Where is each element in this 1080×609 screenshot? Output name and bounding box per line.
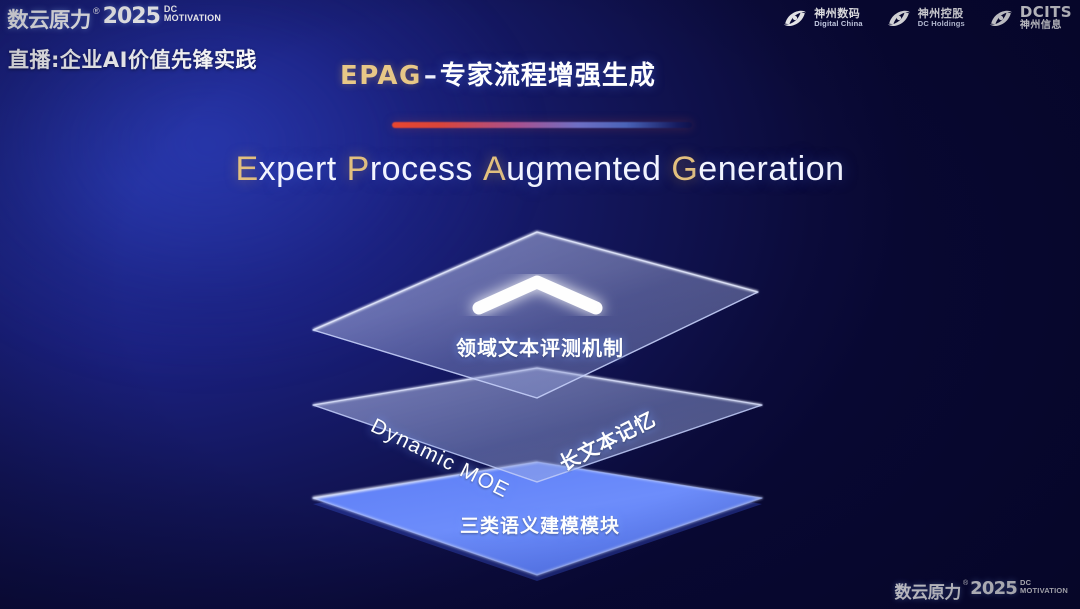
layer-label-dynamic-moe: Dynamic MOE: [367, 414, 514, 503]
watermark-registered-mark: ®: [963, 580, 968, 587]
partner-logo-dc-holdings: 神州控股 DC Holdings: [885, 6, 965, 30]
watermark-dc-motivation: DC MOTIVATION: [1020, 579, 1068, 595]
expanded-acronym-title: Expert Process Augmented Generation: [0, 150, 1080, 189]
header-left: 数云原力 ® 2025 DC MOTIVATION 直播:企业AI价值先锋实践: [8, 4, 328, 74]
watermark-cn: 数云原力: [895, 578, 961, 603]
brand-logo: 数云原力 ® 2025 DC MOTIVATION: [8, 4, 328, 34]
brand-dc-line2: MOTIVATION: [164, 14, 221, 23]
title-dash: –: [422, 61, 440, 91]
chevron-up-icon: [479, 282, 596, 308]
acronym-cap-p: P: [347, 150, 370, 188]
livestream-subtitle: 直播:企业AI价值先锋实践: [8, 44, 328, 74]
partner-logo-dcits: DCITS 神州信息: [987, 5, 1072, 31]
brand-logo-registered-mark: ®: [93, 6, 100, 16]
partner-name-en: DC Holdings: [918, 20, 965, 28]
stack-layer-top[interactable]: [313, 232, 758, 398]
brand-logo-year: 2025: [103, 4, 160, 29]
page-title: EPAG–专家流程增强生成: [340, 55, 656, 92]
watermark-dc-line2: MOTIVATION: [1020, 587, 1068, 595]
swirl-logo-icon: [885, 6, 913, 30]
acronym-cap-e: E: [235, 150, 258, 188]
swirl-logo-icon: [781, 6, 809, 30]
partner-name-en: Digital China: [814, 20, 862, 28]
title-chinese: 专家流程增强生成: [440, 61, 656, 91]
brand-logo-cn: 数云原力: [7, 4, 91, 34]
gradient-divider: [392, 122, 692, 128]
partner-text: 神州控股 DC Holdings: [918, 8, 965, 27]
swirl-logo-icon: [987, 6, 1015, 30]
layer-label-long-text-memory: 长文本记忆: [553, 403, 660, 477]
acronym-rest-generation: eneration: [698, 150, 844, 188]
partner-text: DCITS 神州信息: [1020, 5, 1072, 31]
partner-name-cn: 神州信息: [1020, 21, 1072, 32]
brand-logo-dc-motivation: DC MOTIVATION: [164, 5, 221, 23]
partner-logo-group: 神州数码 Digital China 神州控股 DC Holdings: [781, 5, 1072, 31]
layer-label-top: 领域文本评测机制: [0, 332, 1080, 361]
acronym-cap-a: A: [483, 150, 506, 188]
partner-logo-digital-china: 神州数码 Digital China: [781, 6, 862, 30]
watermark-year: 2025: [970, 578, 1017, 599]
acronym-rest-process: rocess: [370, 150, 473, 188]
acronym-rest-expert: xpert: [259, 150, 337, 188]
partner-text: 神州数码 Digital China: [814, 8, 862, 27]
partner-name-en: DCITS: [1020, 5, 1072, 21]
layer-label-bottom: 三类语义建模模块: [0, 511, 1080, 538]
title-acronym: EPAG: [340, 61, 422, 91]
slide-stage: 领域文本评测机制 Dynamic MOE 长文本记忆 三类语义建模模块 数云原力…: [0, 0, 1080, 609]
acronym-cap-g: G: [671, 150, 698, 188]
acronym-rest-augmented: ugmented: [506, 150, 661, 188]
footer-watermark-logo: 数云原力 ® 2025 DC MOTIVATION: [895, 578, 1068, 603]
